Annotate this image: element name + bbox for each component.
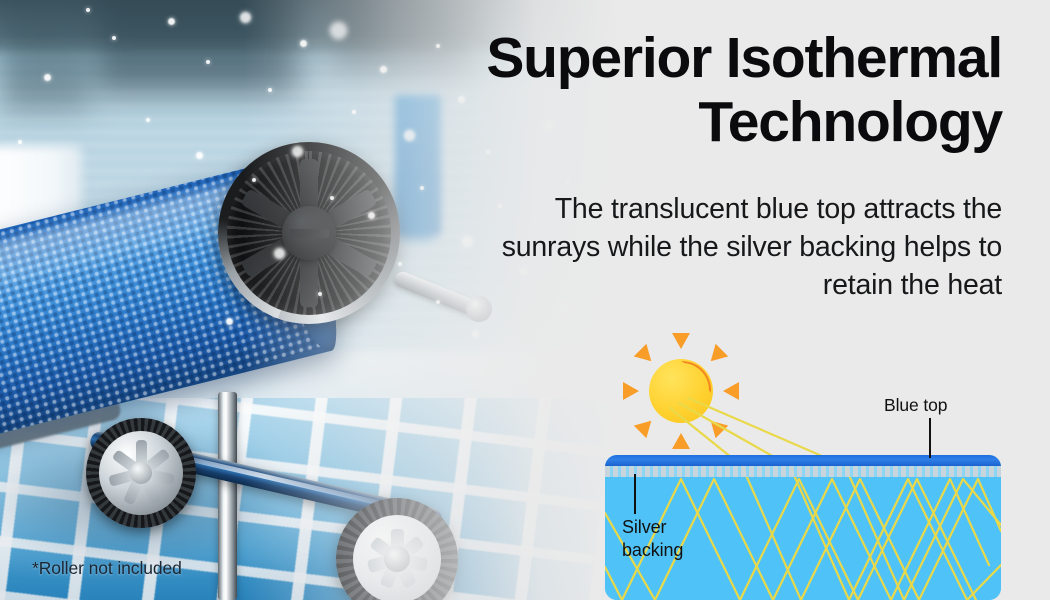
- blue-pool-pillar: [400, 170, 434, 240]
- blue-top-layer: [605, 455, 1001, 466]
- black-spoked-wheel: [218, 142, 400, 324]
- blue-top-label: Blue top: [884, 395, 947, 416]
- marketing-banner: Superior Isothermal Technology The trans…: [0, 0, 1050, 600]
- sun-ray: [704, 344, 728, 368]
- silver-backing-label-line1: Silver: [622, 517, 666, 537]
- sun-ray: [634, 344, 658, 368]
- disclaimer-text: *Roller not included: [32, 558, 182, 579]
- sun-icon: [623, 333, 739, 449]
- silver-backing-leader-line: [634, 474, 636, 514]
- sun-ray: [672, 333, 690, 349]
- sun-disc: [649, 359, 713, 423]
- wheel-center-cap: [130, 462, 152, 484]
- title-line-2: Technology: [698, 90, 1002, 154]
- sun-ray: [634, 414, 658, 438]
- wheel-hub-bar: [289, 229, 329, 238]
- wheel-center-cap: [384, 546, 410, 572]
- sun-ray: [704, 414, 728, 438]
- subtitle-text: The translucent blue top attracts the su…: [482, 190, 1002, 304]
- white-plastic-wheel: [336, 498, 458, 600]
- silver-backing-layer: [605, 466, 1001, 477]
- background-blur-object: [0, 0, 90, 110]
- background-blur-object: [92, 0, 302, 94]
- sun-ray: [723, 382, 739, 400]
- sun-ray: [672, 433, 690, 449]
- silver-alloy-wheel: [86, 418, 196, 528]
- silver-backing-label: Silver backing: [622, 516, 683, 562]
- title-line-1: Superior Isothermal: [486, 26, 1002, 90]
- chrome-support-post: [218, 392, 237, 600]
- silver-backing-label-line2: backing: [622, 540, 683, 560]
- sun-ray: [623, 382, 639, 400]
- page-title: Superior Isothermal Technology: [457, 26, 1002, 154]
- blue-top-leader-line: [929, 418, 931, 458]
